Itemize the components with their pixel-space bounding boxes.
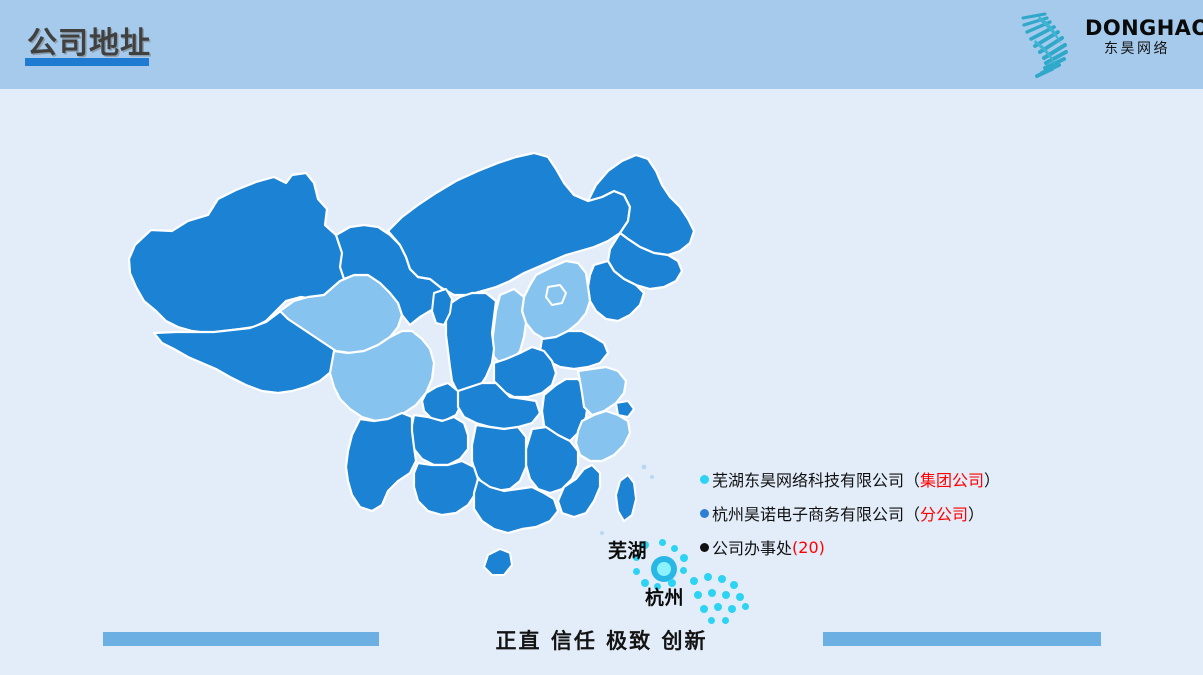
province-guizhou: [410, 415, 468, 465]
legend-company-name: 杭州昊诺电子商务有限公司: [712, 501, 904, 525]
province-beijing: [546, 285, 566, 305]
legend-company-name: 公司办事处: [712, 535, 792, 559]
page-title: 公司地址: [27, 18, 151, 62]
legend-company-tag: （分公司）: [904, 501, 984, 525]
tag-suffix: ）: [968, 505, 984, 524]
bullet-icon: [700, 543, 709, 552]
title-underline: [25, 58, 149, 66]
legend-item-group-company[interactable]: 芜湖东昊网络科技有限公司 （集团公司）: [700, 462, 1130, 496]
office-dot[interactable]: [694, 591, 702, 599]
office-dot[interactable]: [671, 545, 678, 552]
footer-bar-right: [823, 632, 1101, 646]
office-dot[interactable]: [722, 591, 730, 599]
legend-company-tag: (20): [792, 538, 825, 557]
bullet-icon: [700, 509, 709, 518]
logo-name-cn: 东昊网络: [1085, 40, 1189, 58]
bullet-icon: [700, 475, 709, 484]
office-dot[interactable]: [708, 617, 715, 624]
office-dot[interactable]: [728, 605, 736, 613]
legend-company-tag: （集团公司）: [904, 467, 1000, 491]
company-logo: DONGHAO 东昊网络: [1003, 4, 1193, 80]
legend-item-offices[interactable]: 公司办事处 (20): [700, 530, 1130, 564]
province-guangxi: [414, 461, 478, 515]
legend-item-branch-company[interactable]: 杭州昊诺电子商务有限公司 （分公司）: [700, 496, 1130, 530]
tag-text: (20): [792, 538, 825, 557]
logo-text: DONGHAO 东昊网络: [1085, 16, 1189, 58]
city-label-hangzhou: 杭州: [645, 583, 684, 610]
office-dot[interactable]: [690, 577, 698, 585]
province-shaanxi: [446, 293, 496, 397]
feather-wing-icon: [1009, 6, 1085, 78]
tag-suffix: ）: [984, 471, 1000, 490]
office-dot[interactable]: [704, 573, 712, 581]
office-dot[interactable]: [714, 603, 722, 611]
tag-prefix: （: [904, 471, 920, 490]
office-dot[interactable]: [730, 581, 738, 589]
province-hainan: [484, 549, 512, 575]
office-dot[interactable]: [680, 554, 688, 562]
office-dot[interactable]: [722, 617, 729, 624]
office-dot[interactable]: [708, 589, 716, 597]
office-dot[interactable]: [736, 593, 744, 601]
marker-wuhu-main[interactable]: [651, 556, 677, 582]
china-map: 芜湖 杭州: [96, 135, 736, 605]
office-dot[interactable]: [680, 567, 687, 574]
tag-text: 分公司: [920, 505, 968, 524]
office-dot[interactable]: [718, 575, 726, 583]
office-dot[interactable]: [742, 603, 749, 610]
office-dot[interactable]: [633, 568, 640, 575]
office-dot[interactable]: [659, 539, 666, 546]
province-taiwan: [616, 475, 636, 521]
tag-text: 集团公司: [920, 471, 984, 490]
tag-prefix: （: [904, 505, 920, 524]
slide-header: 公司地址: [0, 0, 1203, 89]
city-label-wuhu: 芜湖: [608, 536, 647, 563]
province-yunnan: [346, 413, 416, 511]
map-legend: 芜湖东昊网络科技有限公司 （集团公司） 杭州昊诺电子商务有限公司 （分公司） 公…: [700, 462, 1130, 564]
logo-name-en: DONGHAO: [1085, 16, 1189, 40]
legend-company-name: 芜湖东昊网络科技有限公司: [712, 467, 904, 491]
office-dot[interactable]: [700, 605, 708, 613]
slide-root: 公司地址: [0, 0, 1203, 675]
